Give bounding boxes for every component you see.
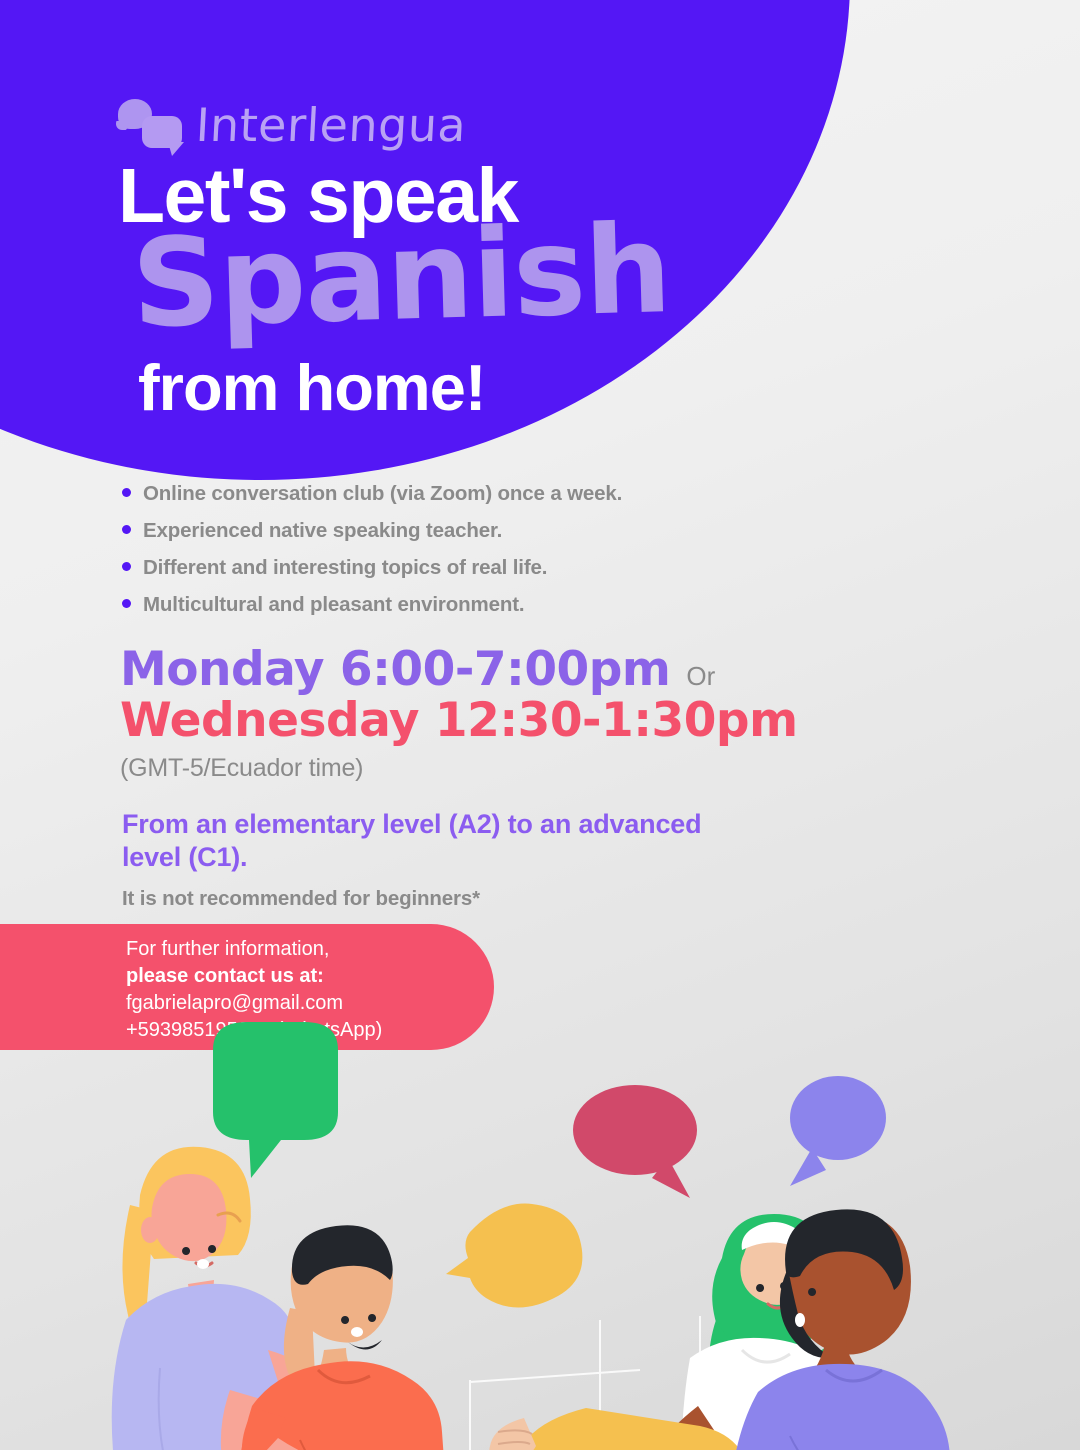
green-speech-bubble (213, 1022, 338, 1178)
feature-list: Online conversation club (via Zoom) once… (122, 482, 882, 630)
headline-block: Let's speak Spanish from home! (118, 160, 798, 425)
bullet-dot-icon (122, 488, 131, 497)
schedule-wednesday: Wednesday 12:30-1:30pm (120, 693, 920, 748)
bullet-dot-icon (122, 599, 131, 608)
list-item: Online conversation club (via Zoom) once… (122, 482, 882, 506)
bullet-dot-icon (122, 562, 131, 571)
level-note: It is not recommended for beginners* (122, 887, 742, 911)
people-illustration (0, 1020, 1080, 1450)
schedule-block: Monday 6:00-7:00pm Or Wednesday 12:30-1:… (120, 642, 920, 783)
feature-text: Experienced native speaking teacher. (143, 519, 502, 543)
crimson-speech-bubble (573, 1085, 697, 1198)
feature-text: Multicultural and pleasant environment. (143, 593, 524, 617)
contact-cta: please contact us at: (126, 963, 494, 990)
logo-bubbles-icon (118, 99, 182, 151)
brand-name: Interlengua (195, 98, 468, 152)
level-block: From an elementary level (A2) to an adva… (122, 808, 742, 911)
feature-text: Online conversation club (via Zoom) once… (143, 482, 622, 506)
headline-line-3: from home! (138, 350, 798, 425)
contact-email[interactable]: fgabrielapro@gmail.com (126, 990, 494, 1017)
schedule-timezone: (GMT-5/Ecuador time) (120, 754, 920, 783)
feature-text: Different and interesting topics of real… (143, 556, 547, 580)
level-range: From an elementary level (A2) to an adva… (122, 808, 742, 874)
yellow-speech-bubble (446, 1204, 582, 1308)
contact-intro: For further information, (126, 936, 494, 963)
periwinkle-speech-bubble (790, 1076, 886, 1186)
schedule-separator: Or (686, 661, 715, 692)
poster-root: Interlengua Let's speak Spanish from hom… (0, 0, 1080, 1450)
schedule-monday-row: Monday 6:00-7:00pm Or (120, 642, 920, 697)
schedule-monday: Monday 6:00-7:00pm (120, 642, 670, 697)
speech-bubble-icon (142, 116, 182, 148)
list-item: Multicultural and pleasant environment. (122, 593, 882, 617)
headline-line-2-spanish: Spanish (131, 219, 799, 333)
illustration-svg (0, 1020, 1080, 1450)
bullet-dot-icon (122, 525, 131, 534)
list-item: Different and interesting topics of real… (122, 556, 882, 580)
brand-logo[interactable]: Interlengua (118, 98, 466, 152)
list-item: Experienced native speaking teacher. (122, 519, 882, 543)
